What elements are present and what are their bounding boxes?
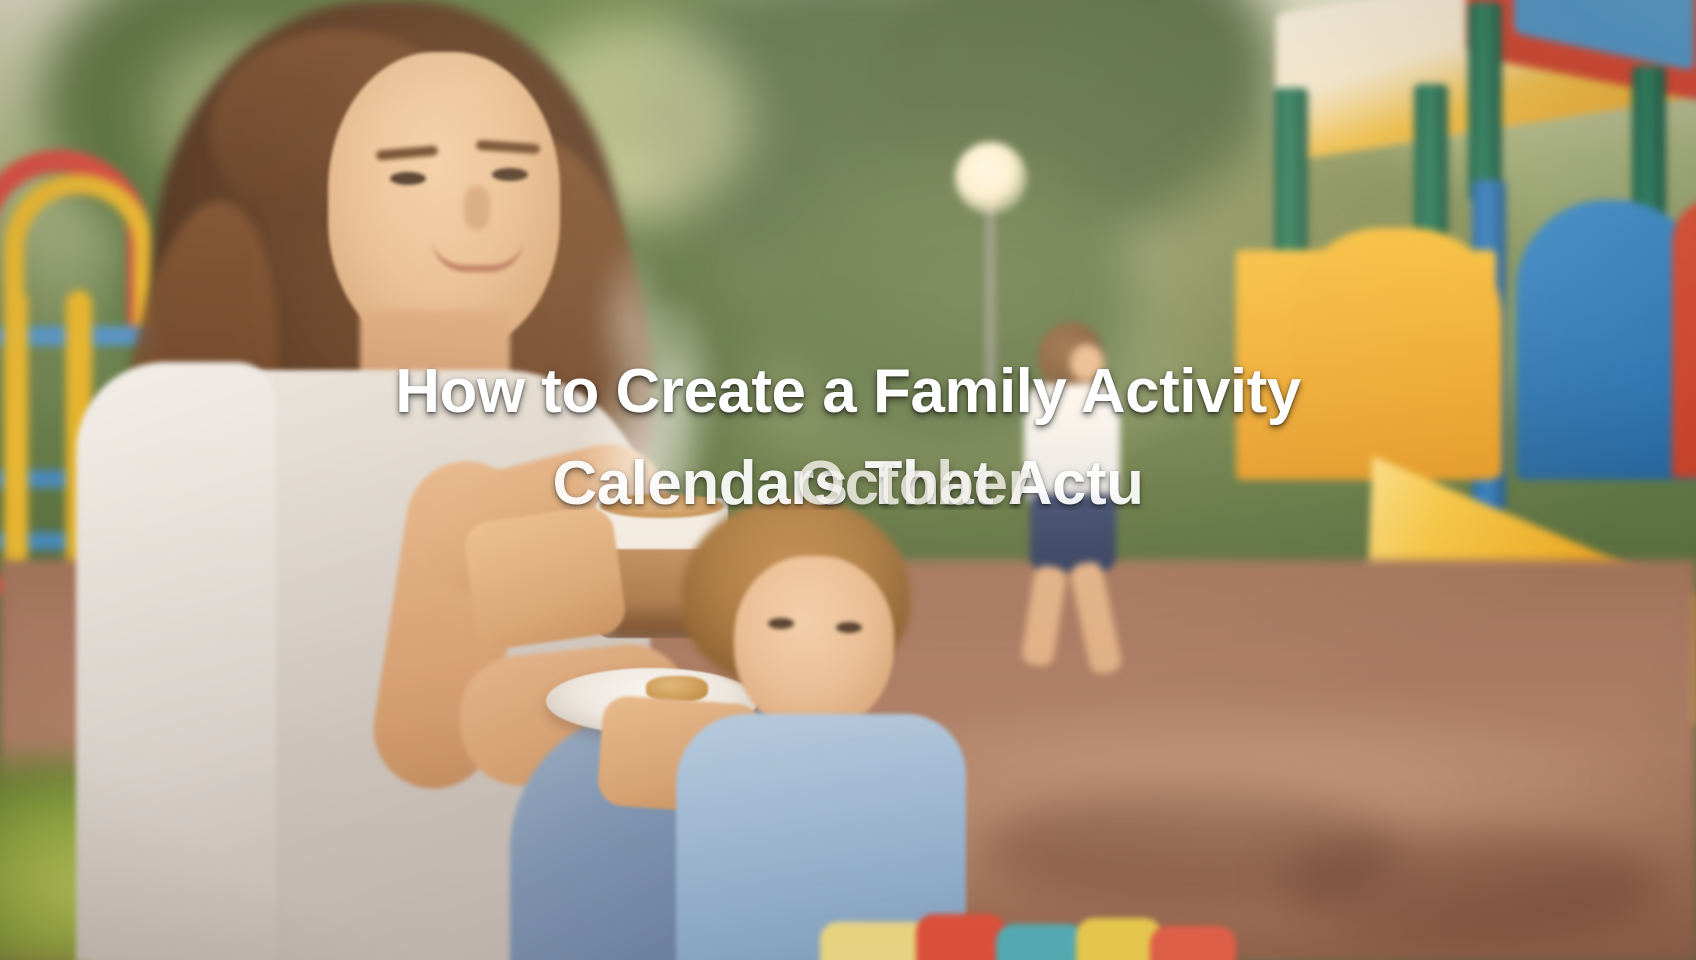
lamp-post-globe — [955, 142, 1027, 214]
hero-image-canvas: How to Create a Family Activity Calendar… — [0, 0, 1696, 960]
woman-face — [328, 52, 560, 352]
blanket-stripe-teal — [996, 924, 1086, 960]
woman-hand-holding-cup — [462, 504, 628, 652]
ground-shadow-b — [1280, 830, 1660, 940]
woman-eye-left — [390, 172, 426, 185]
overlay-title: How to Create a Family Activity Calendar… — [0, 346, 1696, 510]
blanket-stripe-coral — [1150, 926, 1236, 960]
overlay-title-line-2-main: Calendars That Actu — [0, 438, 1696, 510]
running-child-leg-left — [1020, 564, 1067, 668]
post-green-upper — [1468, 2, 1502, 202]
overlay-title-line-2: Calendars That Actu October — [0, 438, 1696, 510]
blanket-stripe-red — [916, 914, 1006, 960]
woman-jeans — [190, 790, 710, 960]
running-child-leg-right — [1069, 560, 1124, 676]
woman-eye-right — [492, 168, 528, 181]
toddler-eye-left — [768, 618, 794, 629]
toddler-face — [734, 556, 894, 732]
woman-nose — [464, 186, 490, 230]
toddler-eye-right — [836, 622, 862, 633]
overlay-title-line-1: How to Create a Family Activity — [0, 346, 1696, 438]
blanket — [820, 908, 1240, 960]
toddler-seated — [672, 498, 972, 960]
overlay-title-clip: How to Create a Family Activity Calendar… — [0, 346, 1696, 510]
overlay-title-line-2-ghost: October — [66, 438, 1696, 510]
